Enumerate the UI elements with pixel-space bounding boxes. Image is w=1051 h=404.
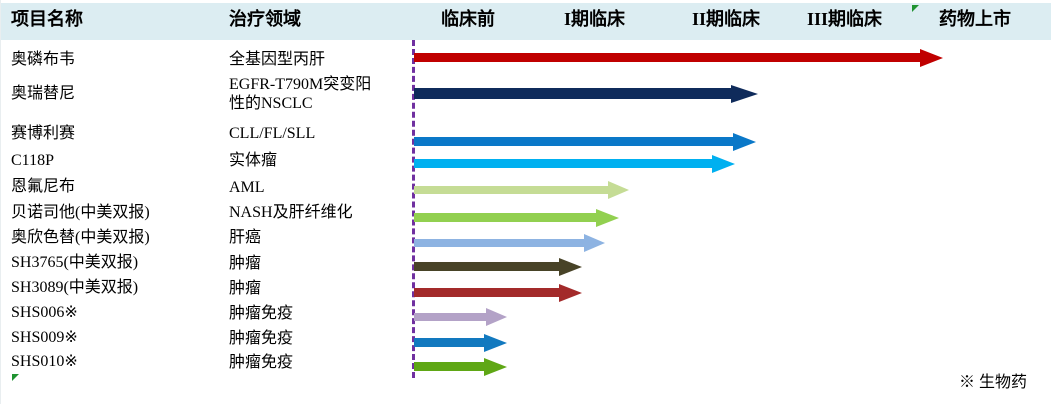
progress-arrow-head [731, 85, 758, 103]
row-therapeutic-area: 肿瘤免疫 [229, 304, 293, 323]
progress-arrow-shaft [414, 313, 486, 321]
progress-arrow-shaft [414, 362, 484, 371]
progress-arrow-head [608, 181, 629, 199]
progress-arrow [414, 362, 507, 371]
row-project-name: 奥欣色替(中美双报) [11, 228, 150, 247]
column-header-1: 治疗领域 [229, 8, 301, 30]
row-project-name: SHS006※ [11, 303, 78, 322]
table-header-band [1, 3, 1051, 40]
green-corner-mark-bottom [12, 374, 19, 381]
row-therapeutic-area: 肿瘤免疫 [229, 329, 293, 348]
row-therapeutic-area: 肿瘤 [229, 279, 261, 298]
row-project-name: 奥瑞替尼 [11, 84, 75, 103]
progress-arrow-shaft [414, 262, 559, 271]
progress-arrow-head [920, 49, 943, 67]
progress-arrow [414, 159, 735, 168]
row-therapeutic-area: 肿瘤免疫 [229, 353, 293, 372]
column-header-2: 临床前 [441, 8, 495, 30]
row-therapeutic-area: AML [229, 178, 265, 197]
progress-arrow [414, 186, 629, 194]
row-therapeutic-area: CLL/FL/SLL [229, 124, 315, 143]
column-header-5: III期临床 [807, 8, 882, 30]
progress-arrow-head [484, 334, 507, 352]
progress-arrow [414, 88, 758, 99]
row-therapeutic-area: 实体瘤 [229, 151, 277, 170]
progress-arrow-shaft [414, 53, 920, 62]
row-project-name: SHS009※ [11, 328, 78, 347]
progress-arrow-shaft [414, 288, 559, 297]
column-header-4: II期临床 [692, 8, 760, 30]
row-project-name: SH3089(中美双报) [11, 278, 138, 297]
progress-arrow [414, 137, 756, 146]
column-header-0: 项目名称 [11, 8, 83, 30]
row-therapeutic-area: EGFR-T790M突变阳 性的NSCLC [229, 75, 371, 113]
progress-arrow-shaft [414, 239, 584, 247]
progress-arrow-head [584, 234, 605, 252]
progress-arrow [414, 338, 507, 347]
row-project-name: 恩氟尼布 [11, 177, 75, 196]
column-header-3: I期临床 [564, 8, 625, 30]
row-therapeutic-area: 全基因型丙肝 [229, 50, 325, 69]
progress-arrow-head [484, 358, 507, 376]
progress-arrow-head [712, 155, 735, 173]
row-project-name: C118P [11, 151, 54, 170]
progress-arrow-shaft [414, 213, 596, 222]
pipeline-chart: 项目名称治疗领域临床前I期临床II期临床III期临床药物上市 奥磷布韦全基因型丙… [0, 0, 1051, 404]
progress-arrow [414, 313, 507, 321]
green-corner-mark-top [912, 5, 919, 12]
progress-arrow-shaft [414, 338, 484, 347]
row-therapeutic-area: 肿瘤 [229, 254, 261, 273]
progress-arrow-shaft [414, 186, 608, 194]
column-header-6: 药物上市 [939, 8, 1011, 30]
progress-arrow [414, 288, 582, 297]
progress-arrow-shaft [414, 159, 712, 168]
row-project-name: 贝诺司他(中美双报) [11, 203, 150, 222]
progress-arrow-head [733, 133, 756, 151]
progress-arrow [414, 213, 619, 222]
row-therapeutic-area: 肝癌 [229, 228, 261, 247]
progress-arrow-shaft [414, 88, 731, 99]
row-project-name: SHS010※ [11, 352, 78, 371]
progress-arrow [414, 239, 605, 247]
row-project-name: 赛博利赛 [11, 124, 75, 143]
progress-arrow-head [559, 284, 582, 302]
progress-arrow [414, 262, 582, 271]
progress-arrow-head [559, 258, 582, 276]
progress-arrow-head [486, 308, 507, 326]
progress-arrow-head [596, 209, 619, 227]
row-therapeutic-area: NASH及肝纤维化 [229, 203, 353, 222]
progress-arrow [414, 53, 943, 62]
biologics-footnote: ※ 生物药 [959, 368, 1027, 392]
row-project-name: SH3765(中美双报) [11, 253, 138, 272]
progress-arrow-shaft [414, 137, 733, 146]
row-project-name: 奥磷布韦 [11, 50, 75, 69]
